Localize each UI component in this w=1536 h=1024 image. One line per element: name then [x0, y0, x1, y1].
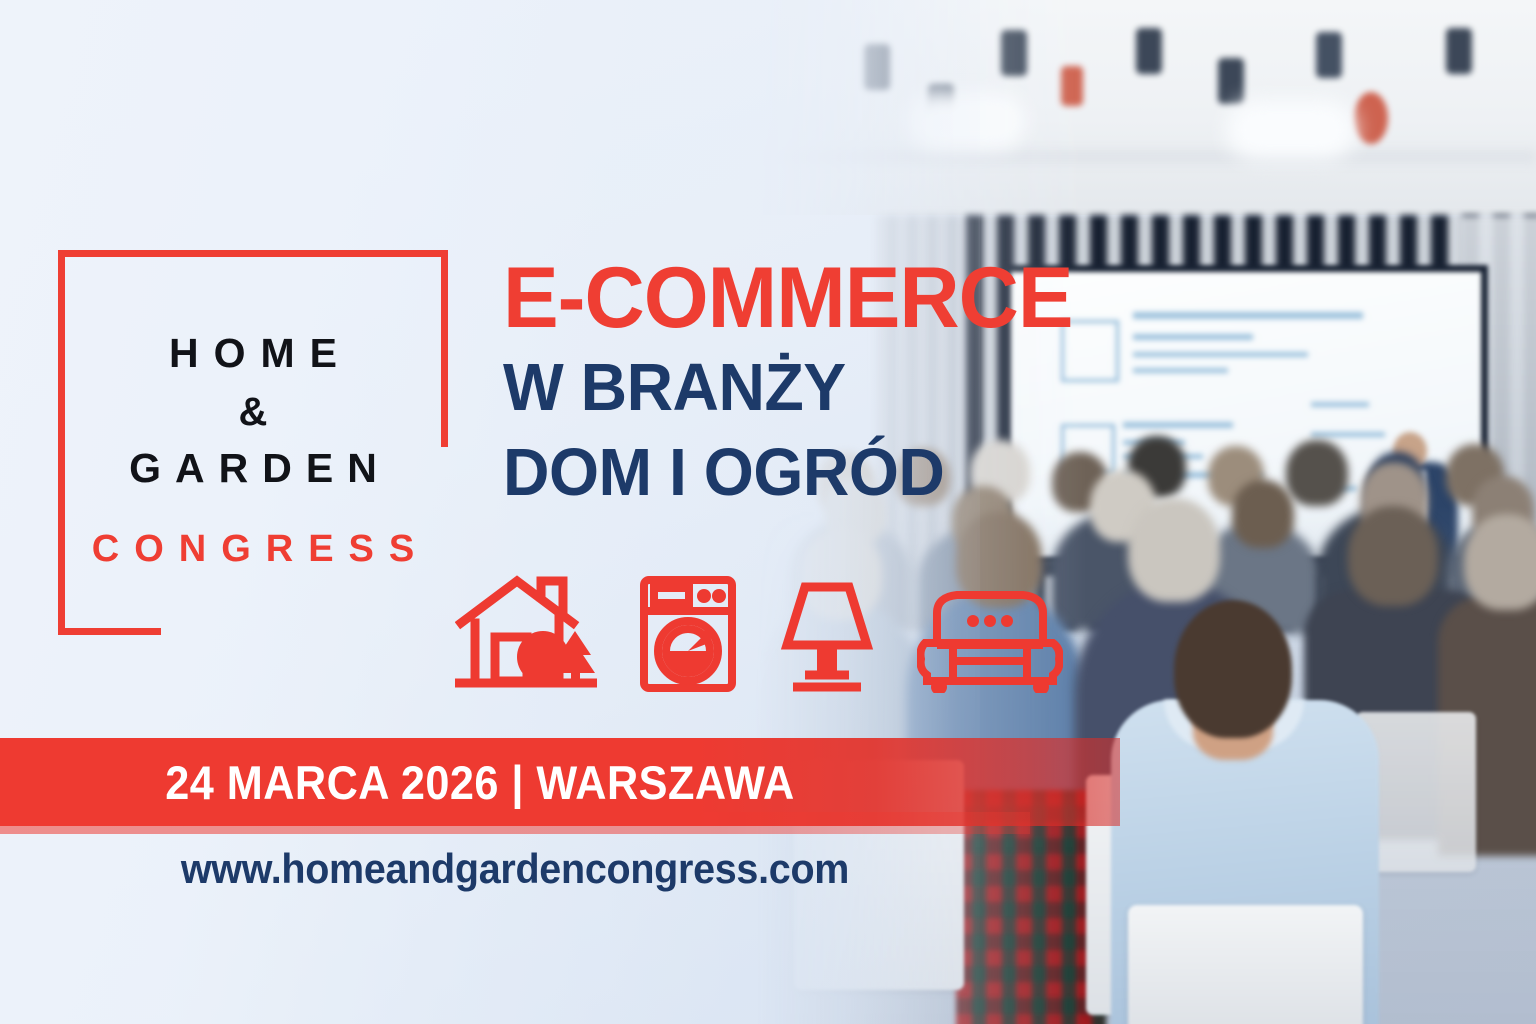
event-banner: HOME & GARDEN CONGRESS E-COMMERCE W BRAN… — [0, 0, 1536, 1024]
sofa-icon — [917, 583, 1063, 693]
logo-frame-top — [58, 250, 446, 257]
spotlight — [1136, 28, 1162, 74]
logo-line-garden: GARDEN — [58, 445, 448, 492]
foreground-attendee-head — [1174, 600, 1292, 738]
date-band-text: 24 MARCA 2026 | WARSZAWA — [38, 738, 921, 826]
spotlight — [1446, 28, 1472, 74]
house-garden-icon — [455, 575, 597, 693]
headline-subtitle-line2: DOM I OGRÓD — [503, 435, 1067, 510]
spotlight — [1218, 58, 1244, 104]
home-and-garden-congress-logo: HOME & GARDEN CONGRESS — [58, 250, 448, 635]
headline-subtitle-line1: W BRANŻY — [503, 350, 1067, 425]
headline-block: E-COMMERCE W BRANŻY DOM I OGRÓD — [503, 256, 1090, 510]
spotlight — [1001, 30, 1027, 76]
spotlight — [864, 44, 890, 90]
light-glow — [1226, 100, 1356, 160]
logo-frame-bottom — [58, 628, 161, 635]
spotlight — [1316, 32, 1342, 78]
category-icon-row — [455, 575, 1063, 693]
logo-line-home: HOME — [58, 330, 448, 377]
website-url[interactable]: www.homeandgardencongress.com — [31, 845, 999, 893]
ceiling-beam — [756, 150, 1536, 164]
headline-title: E-COMMERCE — [503, 256, 1073, 340]
chair — [1128, 905, 1363, 1024]
logo-line-congress: CONGRESS — [58, 528, 448, 571]
washing-machine-icon — [639, 575, 737, 693]
table-lamp-icon — [779, 575, 875, 693]
logo-line-ampersand: & — [58, 390, 448, 435]
light-glow — [906, 92, 1026, 150]
spotlight — [1354, 92, 1388, 144]
logo-frame-left — [58, 250, 65, 635]
spotlight — [1061, 66, 1083, 106]
